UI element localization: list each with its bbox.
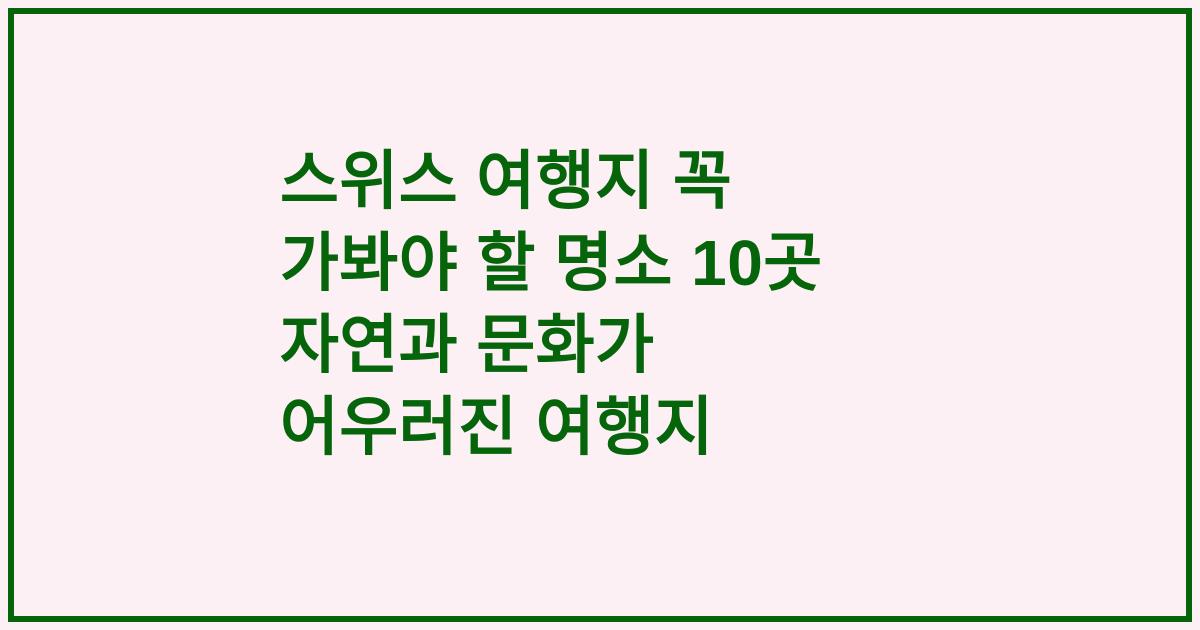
headline-line-4: 어우러진 여행지: [280, 386, 1160, 468]
headline-line-3: 자연과 문화가: [280, 304, 1160, 386]
headline-line-2: 가봐야 할 명소 10곳: [280, 222, 1160, 304]
thumbnail-card: 스위스 여행지 꼭 가봐야 할 명소 10곳 자연과 문화가 어우러진 여행지: [0, 0, 1200, 630]
headline-line-1: 스위스 여행지 꼭: [280, 140, 1160, 222]
headline-block: 스위스 여행지 꼭 가봐야 할 명소 10곳 자연과 문화가 어우러진 여행지: [280, 140, 1160, 468]
